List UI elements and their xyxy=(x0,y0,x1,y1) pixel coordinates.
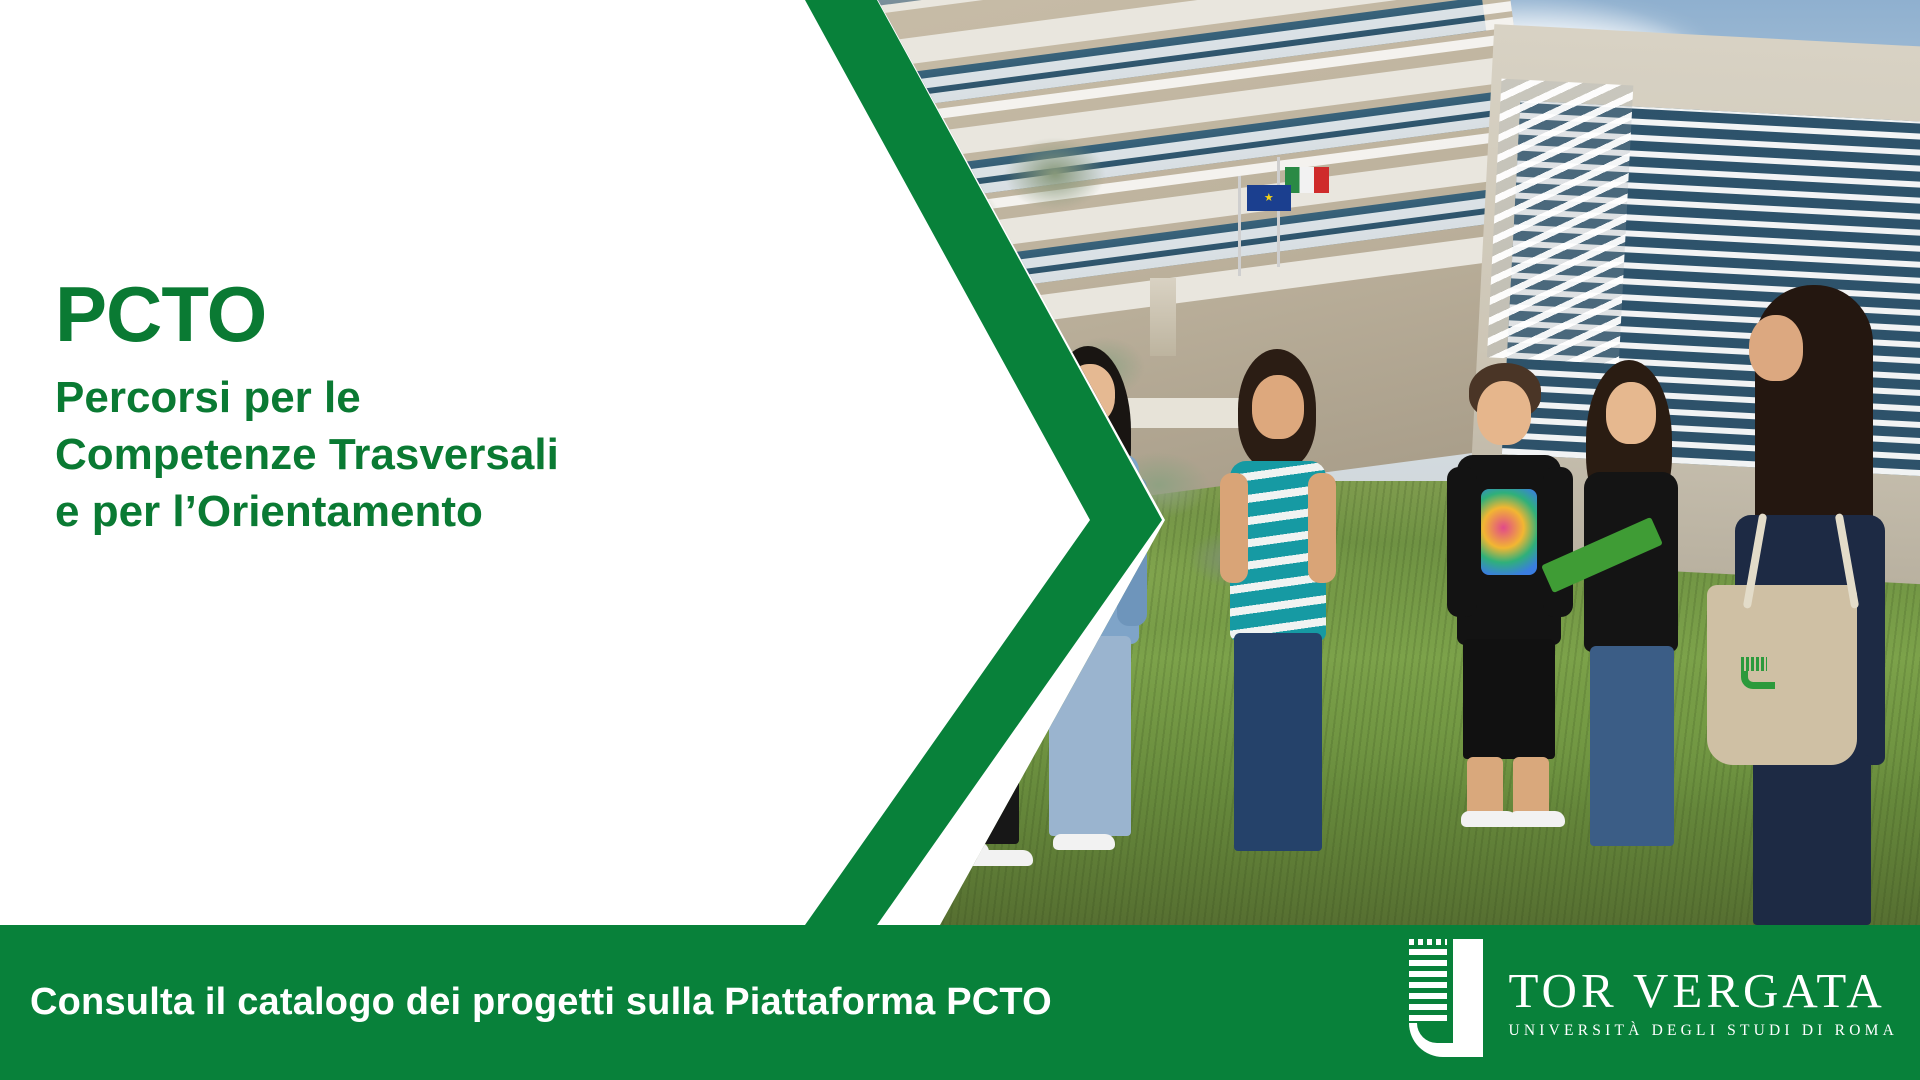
logo-tagline: UNIVERSITÀ DEGLI STUDI DI ROMA xyxy=(1509,1023,1898,1039)
page-title: PCTO xyxy=(55,275,775,355)
campus-photo xyxy=(820,0,1920,925)
flagpole xyxy=(1238,176,1241,276)
student-denim-jacket xyxy=(1029,346,1159,851)
subtitle-line-1: Percorsi per le xyxy=(55,369,775,426)
tor-vergata-canvas-backpack xyxy=(1707,585,1857,765)
logo-wordmark: TOR VERGATA UNIVERSITÀ DEGLI STUDI DI RO… xyxy=(1509,966,1898,1039)
logo-name: TOR VERGATA xyxy=(1509,966,1898,1015)
call-to-action-text[interactable]: Consulta il catalogo dei progetti sulla … xyxy=(30,981,1052,1024)
eu-flag-icon xyxy=(1247,185,1291,211)
bottom-banner: Consulta il catalogo dei progetti sulla … xyxy=(0,925,1920,1080)
subtitle-line-3: e per l’Orientamento xyxy=(55,483,775,540)
pcto-promo-poster: PCTO Percorsi per le Competenze Trasvers… xyxy=(0,0,1920,1080)
headline-block: PCTO Percorsi per le Competenze Trasvers… xyxy=(55,275,775,540)
italian-flag-icon xyxy=(1285,167,1329,193)
olive-tree xyxy=(864,56,1172,593)
tor-vergata-logo[interactable]: TOR VERGATA UNIVERSITÀ DEGLI STUDI DI RO… xyxy=(1409,949,1898,1057)
student-with-backpack xyxy=(1711,285,1901,925)
flagpole xyxy=(1277,157,1280,267)
campus-photo-scene xyxy=(820,0,1920,925)
tor-vergata-j-mark-icon xyxy=(1409,949,1487,1057)
tote-bag xyxy=(903,530,959,650)
student-striped-shirt xyxy=(1216,349,1346,879)
page-subtitle: Percorsi per le Competenze Trasversali e… xyxy=(55,369,775,541)
student-printed-tee xyxy=(1447,363,1577,833)
student-green-folder xyxy=(1568,360,1698,860)
subtitle-line-2: Competenze Trasversali xyxy=(55,426,775,483)
